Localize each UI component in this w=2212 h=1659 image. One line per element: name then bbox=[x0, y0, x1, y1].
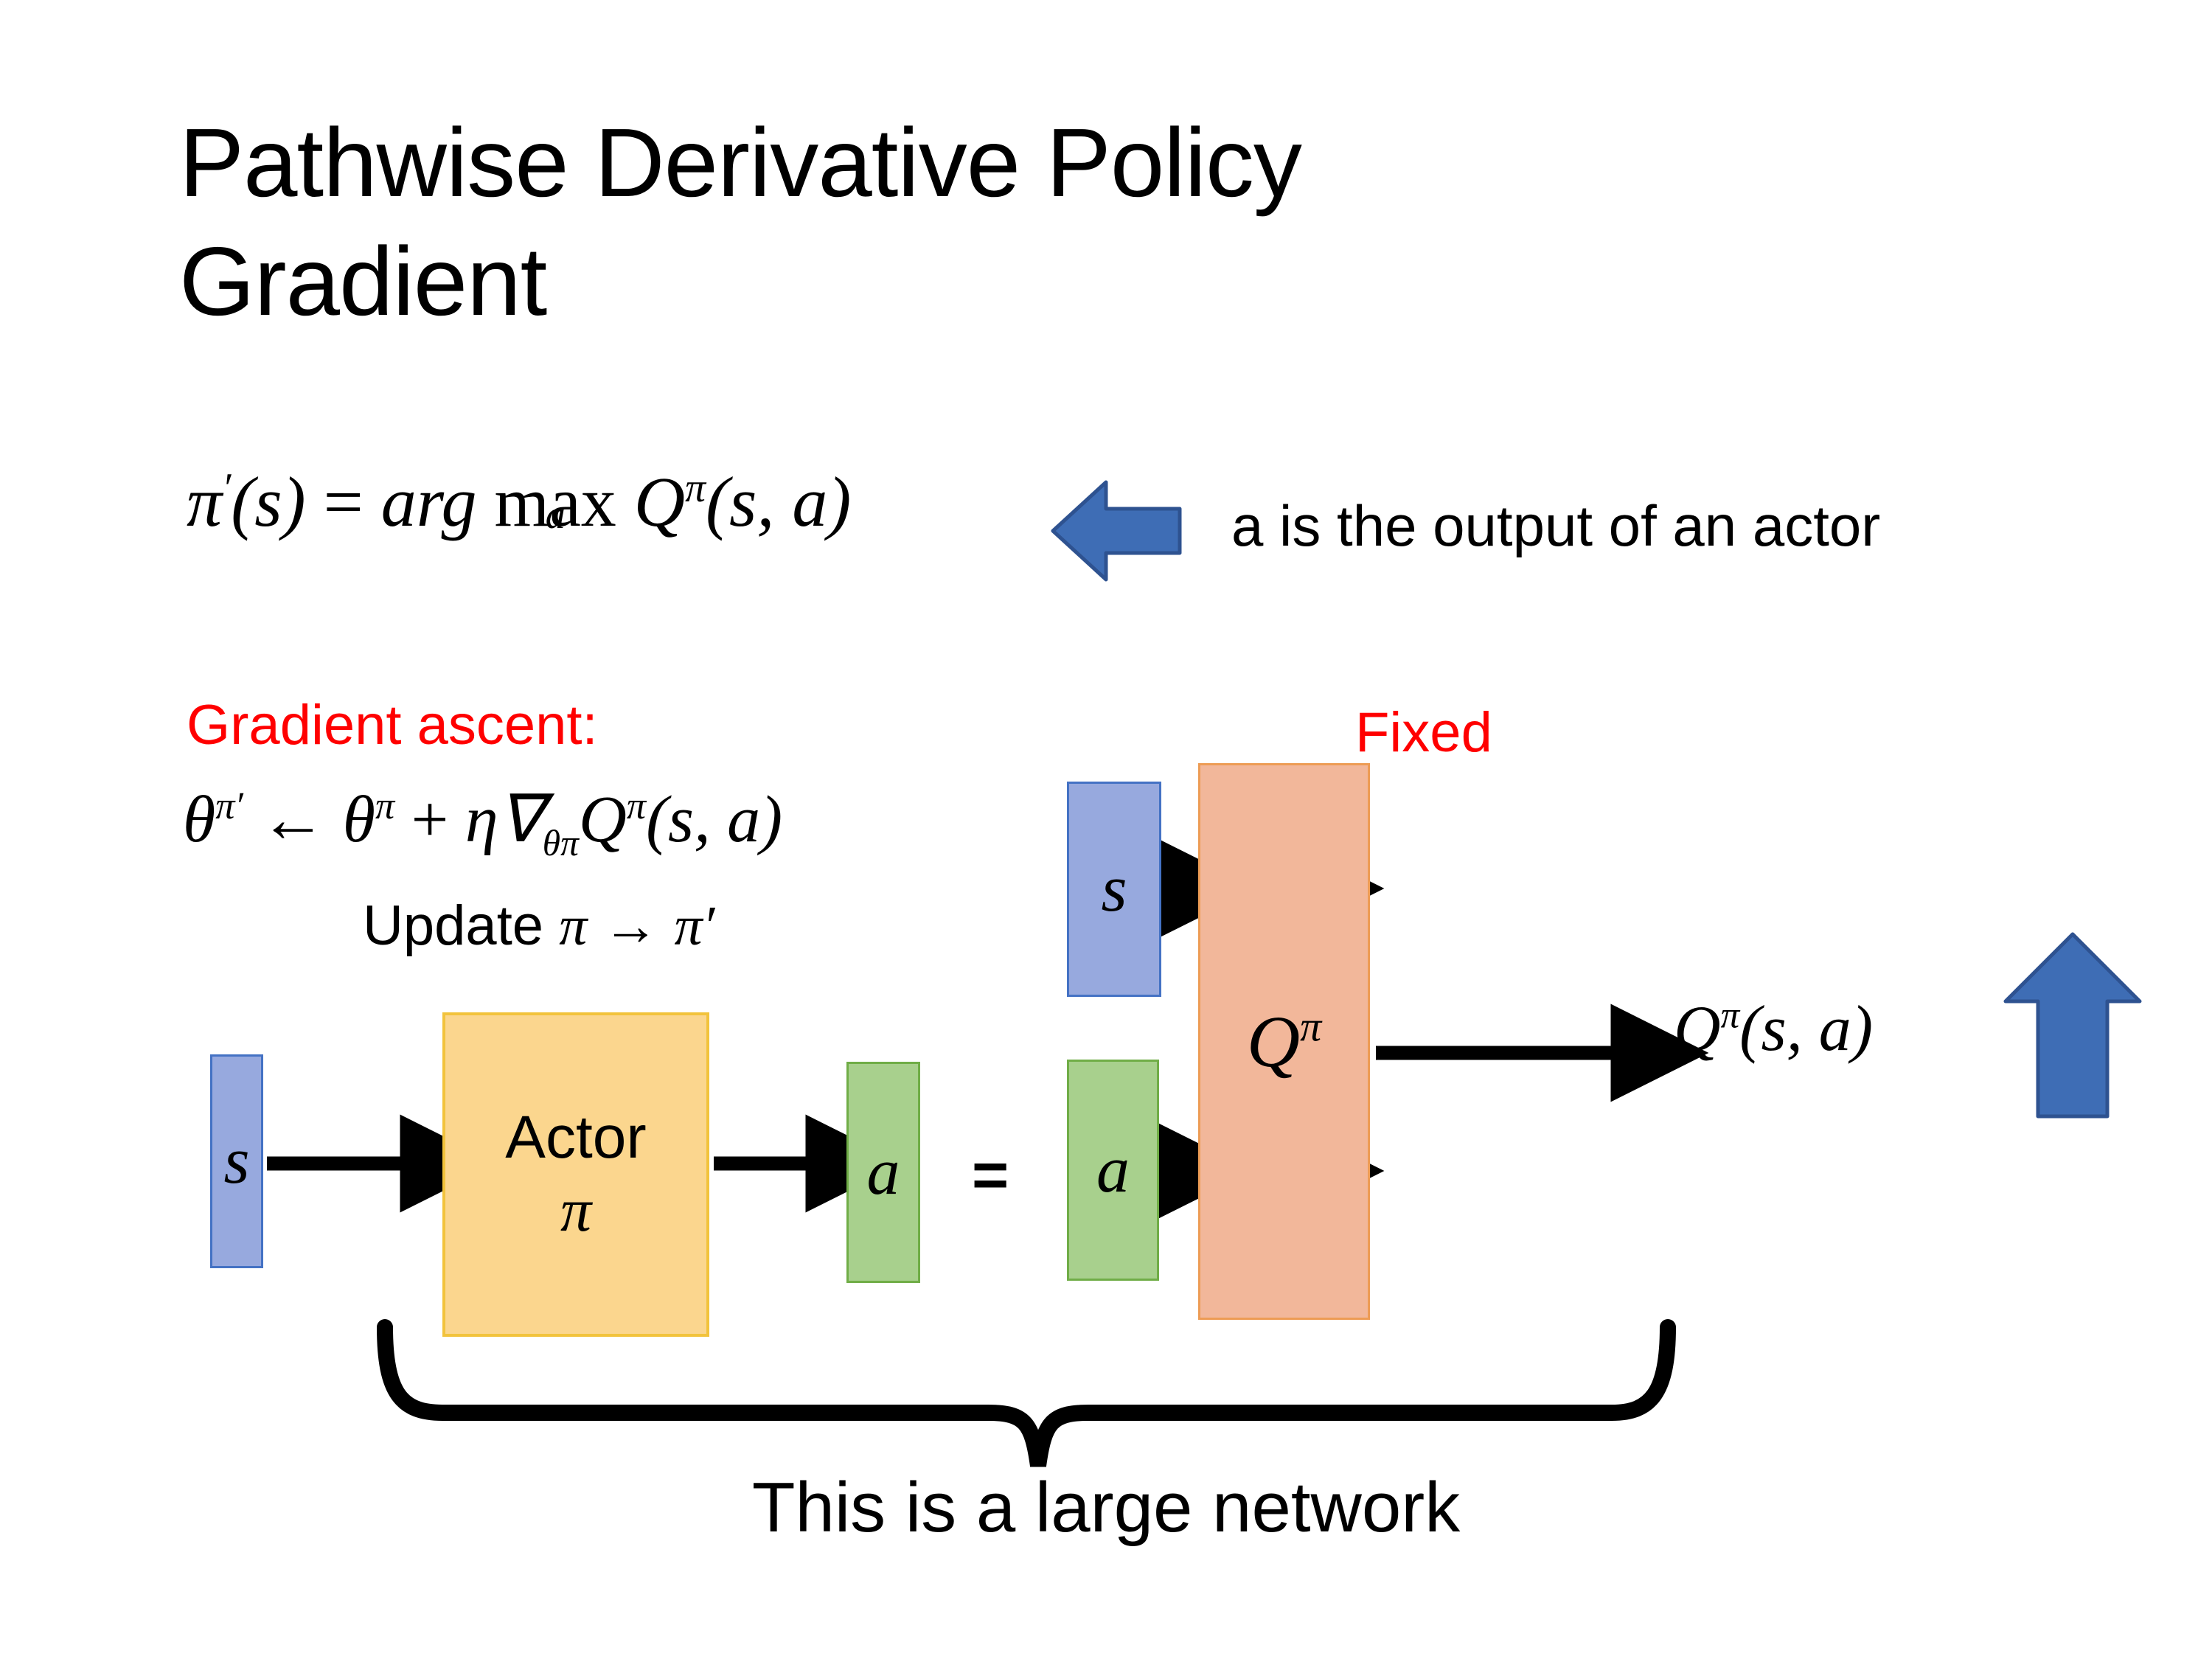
grad-eta: η bbox=[465, 783, 498, 856]
formula-q-args: (s, a) bbox=[706, 462, 851, 541]
grad-q: Q bbox=[579, 783, 627, 856]
curly-brace-icon bbox=[385, 1327, 1668, 1466]
formula-argmax: π′(s) = arg maxa Qπ(s, a) bbox=[187, 461, 851, 543]
grad-plus: + bbox=[411, 783, 449, 856]
box-state-top-label: s bbox=[1101, 850, 1127, 928]
box-action-left-label: a bbox=[867, 1133, 900, 1211]
box-actor[interactable]: Actor π bbox=[442, 1012, 709, 1337]
formula-equals: = bbox=[324, 462, 364, 541]
output-q-value: Qπ(s, a) bbox=[1674, 992, 1873, 1066]
formula-paren-open: ( bbox=[231, 462, 254, 541]
box-actor-policy-symbol: π bbox=[505, 1174, 646, 1247]
grad-theta1-superscript: π′ bbox=[215, 785, 243, 827]
grad-nabla-subscript: θπ bbox=[543, 823, 579, 863]
arrow-up-icon bbox=[2003, 931, 2143, 1121]
grad-theta1: θ bbox=[183, 783, 215, 856]
formula-gradient-ascent: θπ′ ← θπ + η∇θπQπ(s, a) bbox=[183, 780, 782, 858]
grad-left-arrow: ← bbox=[260, 783, 326, 856]
grad-theta2: θ bbox=[343, 783, 375, 856]
formula-max-subscript: a bbox=[495, 492, 616, 538]
box-state-left[interactable]: s bbox=[210, 1054, 263, 1268]
box-action-right-label: a bbox=[1096, 1131, 1130, 1209]
formula-arg: arg bbox=[381, 462, 477, 541]
grad-nabla: ∇ bbox=[498, 783, 543, 856]
formula-pi: π bbox=[187, 462, 222, 541]
grad-q-args: (s, a) bbox=[646, 783, 782, 856]
update-prefix: Update bbox=[363, 894, 559, 957]
formula-q-superscript: π bbox=[685, 465, 706, 511]
box-action-right[interactable]: a bbox=[1067, 1060, 1159, 1281]
update-pi-prime: π′ bbox=[675, 895, 715, 957]
page-title: Pathwise Derivative Policy Gradient bbox=[179, 103, 1691, 341]
output-q-superscript: π bbox=[1721, 995, 1740, 1037]
output-q-args: (s, a) bbox=[1739, 993, 1873, 1065]
formula-prime: ′ bbox=[222, 465, 231, 511]
label-fixed: Fixed bbox=[1355, 700, 1492, 765]
box-q-network[interactable]: Qπ bbox=[1198, 763, 1370, 1320]
box-q-label: Qπ bbox=[1247, 998, 1321, 1085]
caption-large-network: This is a large network bbox=[0, 1467, 2212, 1548]
label-gradient-ascent: Gradient ascent: bbox=[187, 693, 598, 757]
grad-theta2-superscript: π bbox=[375, 785, 394, 827]
update-arrow: → bbox=[587, 894, 674, 957]
output-q: Q bbox=[1674, 993, 1721, 1065]
equals-sign: = bbox=[972, 1139, 1009, 1212]
formula-s: s bbox=[254, 462, 282, 541]
formula-paren-close: ) bbox=[282, 462, 306, 541]
note-actor-output: a is the output of an actor bbox=[1231, 493, 1880, 560]
box-state-top[interactable]: s bbox=[1067, 782, 1161, 997]
formula-q: Q bbox=[634, 462, 685, 541]
label-update-pi: Update π → π′ bbox=[363, 894, 714, 959]
update-pi: π bbox=[559, 895, 587, 957]
box-state-left-label: s bbox=[223, 1122, 249, 1200]
slide-canvas: Pathwise Derivative Policy Gradient π′(s… bbox=[0, 0, 2212, 1659]
box-q-label-superscript: π bbox=[1300, 1002, 1321, 1050]
grad-q-superscript: π bbox=[627, 785, 646, 827]
arrow-left-icon bbox=[1050, 478, 1183, 585]
box-action-left[interactable]: a bbox=[846, 1062, 920, 1283]
box-actor-label: Actor bbox=[505, 1102, 646, 1174]
